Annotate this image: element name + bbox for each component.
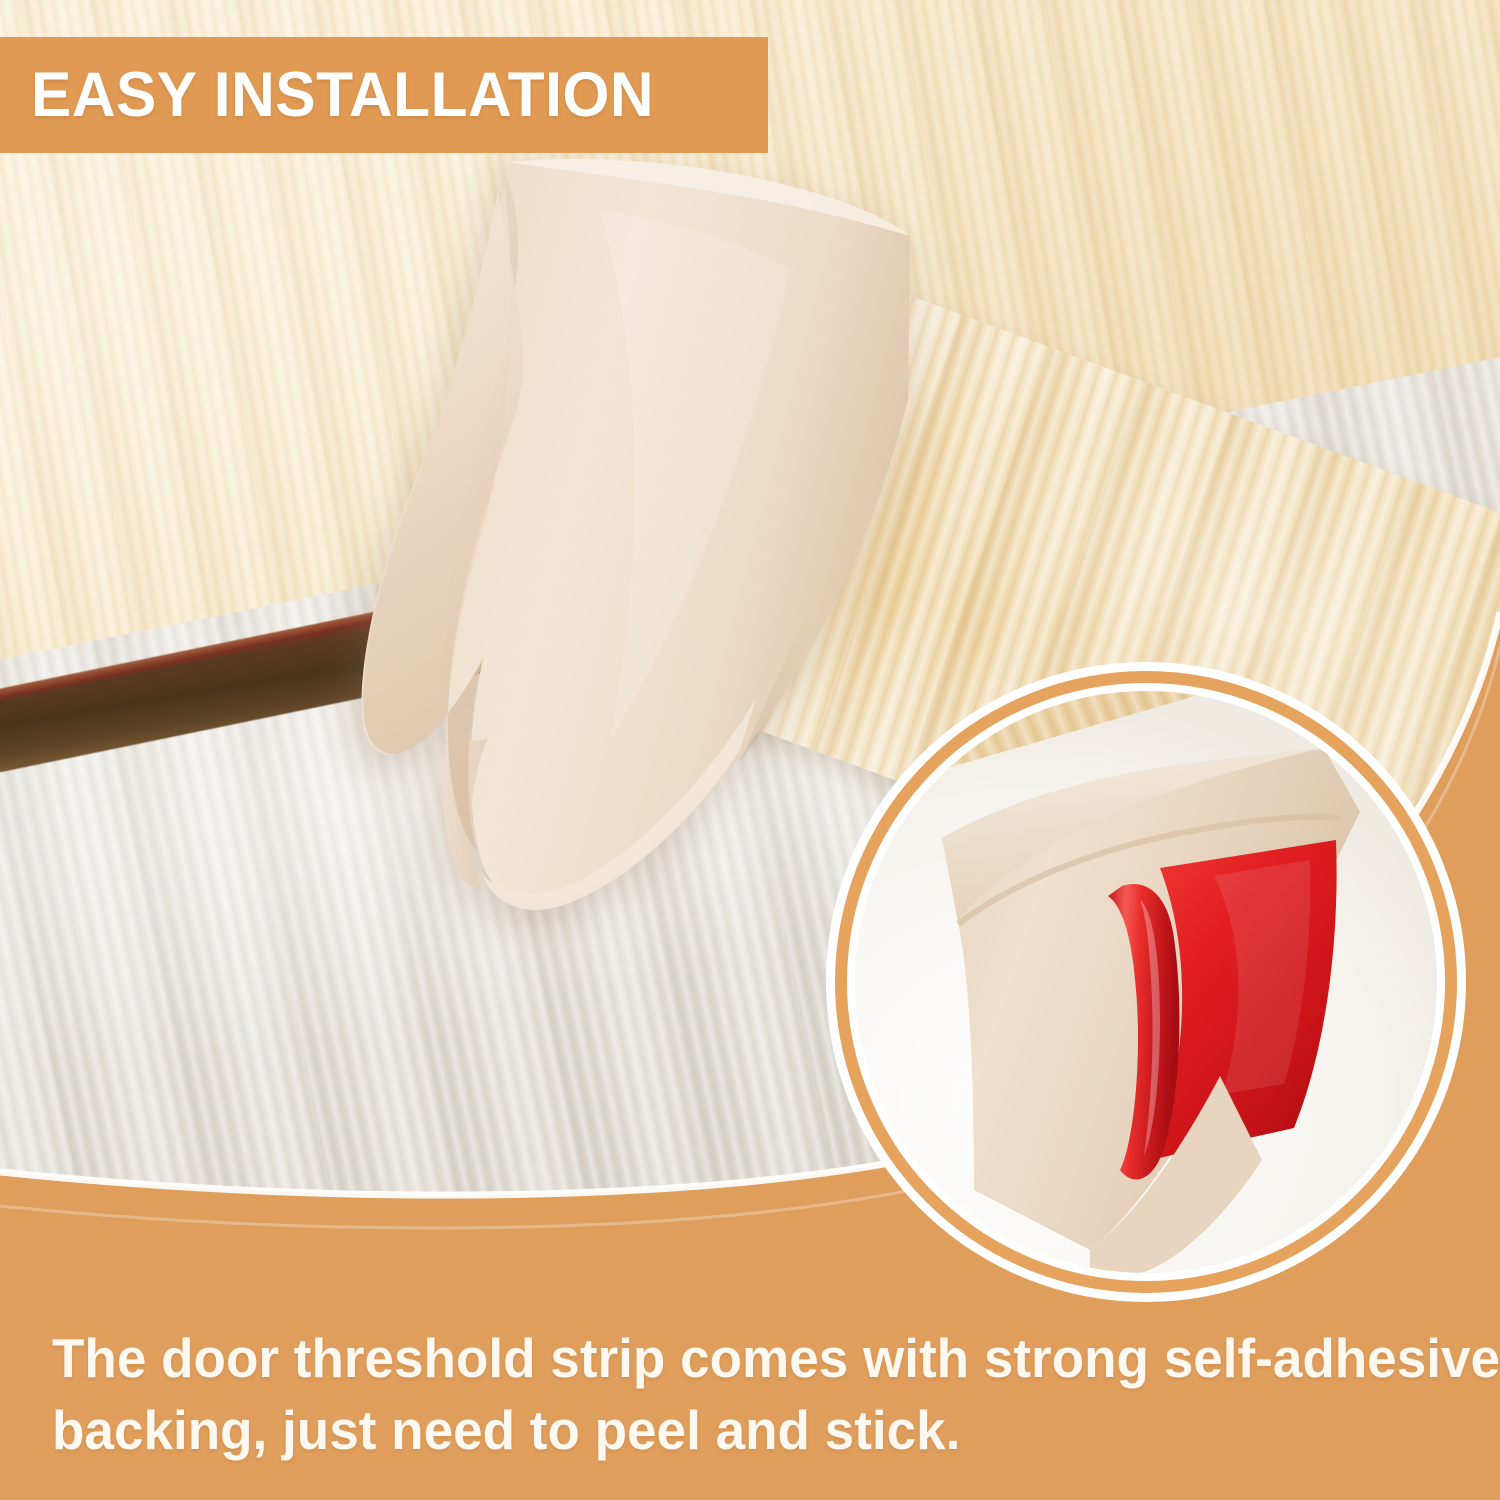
product-marketing-image: EASY INSTALLATION xyxy=(0,0,1500,1500)
detail-callout-circle xyxy=(826,662,1466,1302)
banner-title: EASY INSTALLATION xyxy=(31,64,654,127)
caption-text: The door threshold strip comes with stro… xyxy=(52,1322,1403,1466)
caption-line-1: The door threshold strip comes with stro… xyxy=(52,1322,1403,1394)
caption-line-2: backing, just need to peel and stick. xyxy=(52,1394,1403,1466)
header-banner: EASY INSTALLATION xyxy=(0,37,768,153)
detail-ring-outer xyxy=(826,662,1466,1302)
